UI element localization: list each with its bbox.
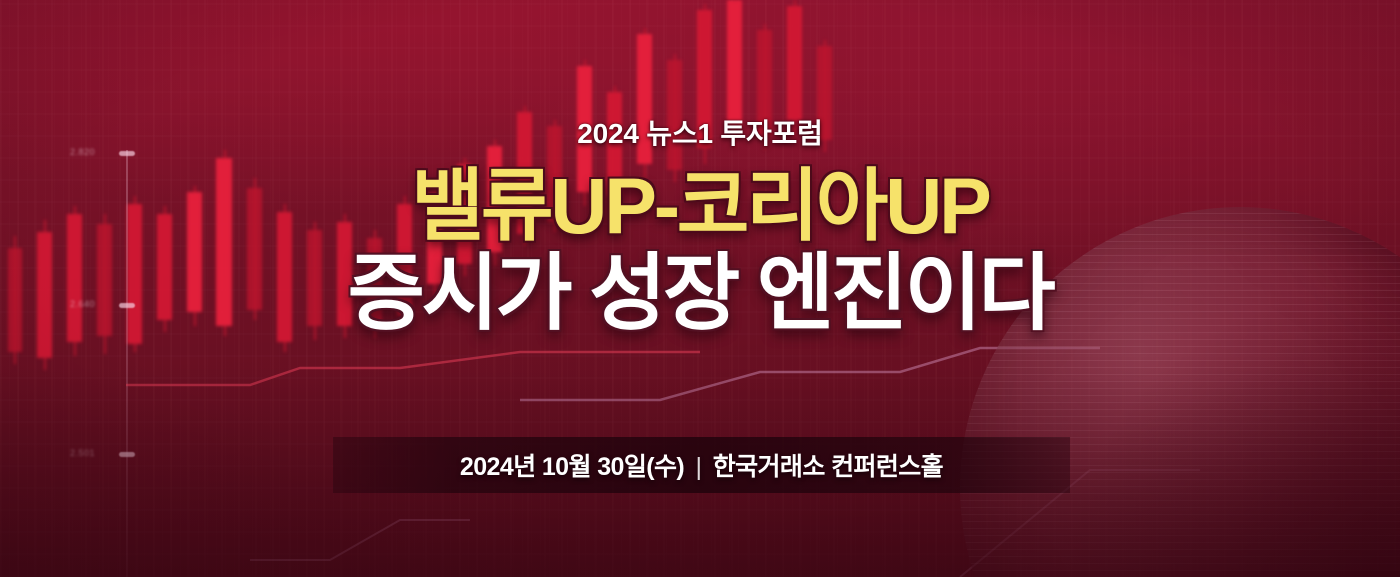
headline-line-1: 밸류UP-코리아UP [411,166,988,245]
banner-content: 2024 뉴스1 투자포럼 밸류UP-코리아UP 증시가 성장 엔진이다 [0,0,1400,577]
headline-line-2: 증시가 성장 엔진이다 [348,251,1053,335]
event-banner: 2.820 2.640 2.501 2024 뉴스1 투자포럼 밸류UP-코리아… [0,0,1400,577]
forum-eyebrow-title: 2024 뉴스1 투자포럼 [577,112,822,152]
